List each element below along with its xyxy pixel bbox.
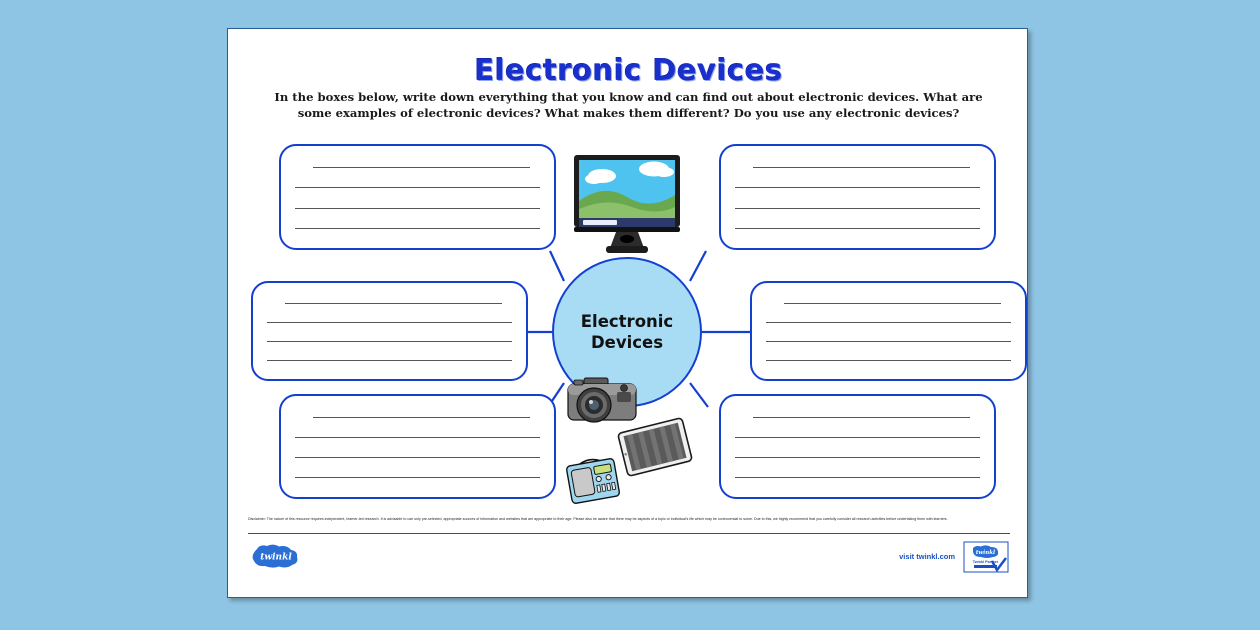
writing-box-middle-right[interactable] <box>750 281 1027 381</box>
footer-divider <box>248 533 1010 534</box>
writing-line[interactable] <box>735 437 980 438</box>
twinkl-logo: twinkl <box>248 544 304 569</box>
writing-line[interactable] <box>766 341 1011 342</box>
instructions-text: In the boxes below, write down everythin… <box>266 89 991 121</box>
mindmap-center-label: Electronic Devices <box>581 311 673 353</box>
writing-line[interactable] <box>735 457 980 458</box>
writing-line[interactable] <box>753 417 970 418</box>
computer-monitor-icon <box>566 151 688 259</box>
writing-box-top-left[interactable] <box>279 144 556 250</box>
writing-line[interactable] <box>267 360 512 361</box>
writing-box-top-right[interactable] <box>719 144 996 250</box>
writing-line[interactable] <box>735 477 980 478</box>
writing-line[interactable] <box>766 360 1011 361</box>
worksheet-page: Electronic Devices In the boxes below, w… <box>227 28 1028 598</box>
writing-box-middle-left[interactable] <box>251 281 528 381</box>
writing-line[interactable] <box>735 228 980 229</box>
writing-line[interactable] <box>295 437 540 438</box>
writing-box-bottom-left[interactable] <box>279 394 556 499</box>
writing-line[interactable] <box>313 417 530 418</box>
writing-line[interactable] <box>753 167 970 168</box>
tablet-icon <box>617 416 693 478</box>
writing-line[interactable] <box>267 341 512 342</box>
writing-line[interactable] <box>735 208 980 209</box>
writing-line[interactable] <box>735 187 980 188</box>
portable-radio-icon <box>562 454 624 508</box>
svg-text:twinkl: twinkl <box>260 553 292 563</box>
writing-line[interactable] <box>295 457 540 458</box>
writing-line[interactable] <box>766 322 1011 323</box>
writing-line[interactable] <box>295 187 540 188</box>
writing-line[interactable] <box>267 322 512 323</box>
writing-line[interactable] <box>295 228 540 229</box>
writing-line[interactable] <box>295 477 540 478</box>
twinkl-partner-badge: twinkl Twinkl Partner <box>963 541 1009 575</box>
writing-line[interactable] <box>285 303 502 304</box>
writing-box-bottom-right[interactable] <box>719 394 996 499</box>
page-title: Electronic Devices <box>228 53 1029 87</box>
writing-line[interactable] <box>295 208 540 209</box>
svg-text:Twinkl Partner: Twinkl Partner <box>973 560 999 564</box>
writing-line[interactable] <box>784 303 1001 304</box>
visit-twinkl-link[interactable]: visit twinkl.com <box>899 552 955 561</box>
svg-text:twinkl: twinkl <box>976 550 995 556</box>
writing-line[interactable] <box>313 167 530 168</box>
disclaimer-text: Disclaimer: The nature of this resource … <box>248 516 1010 522</box>
